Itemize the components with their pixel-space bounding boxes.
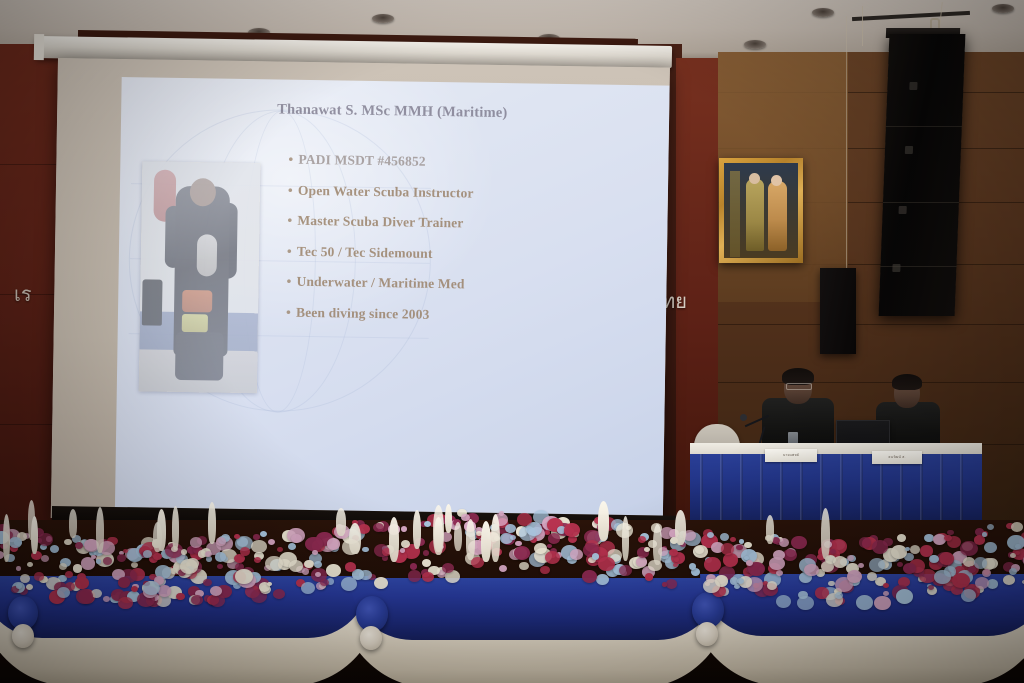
flower: [830, 549, 836, 554]
flower: [779, 538, 789, 547]
flower: [883, 583, 890, 589]
flower-spike: [336, 508, 347, 536]
flower: [869, 558, 885, 572]
flower: [929, 555, 939, 563]
royal-portrait-frame: [719, 158, 803, 263]
flower: [939, 552, 955, 565]
flower: [598, 557, 615, 571]
eyeglasses-icon: [786, 383, 812, 390]
flower: [422, 559, 431, 567]
flower: [408, 570, 422, 582]
slide-bullet-item: •Underwater / Maritime Med: [286, 274, 658, 296]
slide-bullet-item: •PADI MSDT #456852: [288, 152, 660, 174]
flower: [1003, 575, 1015, 585]
flower: [517, 513, 532, 526]
flower: [235, 569, 252, 584]
flower: [961, 589, 977, 603]
slide-bullet-list: •PADI MSDT #456852 •Open Water Scuba Ins…: [286, 152, 661, 341]
flower: [828, 581, 835, 587]
slide-bullet-item: •Been diving since 2003: [286, 304, 658, 326]
flower: [582, 570, 597, 583]
flower-spike: [454, 522, 462, 551]
flower: [982, 569, 991, 577]
slide-bullet-text: Master Scuba Diver Trainer: [297, 213, 463, 231]
flower: [59, 563, 67, 570]
flower-spike: [675, 510, 686, 545]
flower: [791, 536, 807, 550]
flower: [944, 535, 952, 542]
flower: [191, 595, 203, 605]
flower: [874, 596, 891, 610]
flower: [301, 582, 315, 594]
flower: [34, 572, 44, 580]
drape-rosette-cream: [696, 622, 718, 646]
flower: [499, 565, 507, 572]
flower-spike: [208, 502, 217, 545]
projected-slide: Thanawat S. MSc MMH (Maritime) •PADI MSD…: [115, 77, 670, 516]
flower: [304, 560, 313, 568]
flower-spike: [389, 517, 399, 562]
rigging-cable: [862, 6, 863, 46]
slide-bullet-item: •Open Water Scuba Instructor: [288, 182, 660, 204]
flower-spike: [349, 523, 361, 554]
flower: [833, 556, 848, 569]
flower-spike: [445, 504, 453, 534]
wall-speaker: [820, 268, 856, 354]
floral-garland: [0, 496, 1024, 616]
flower: [288, 543, 296, 550]
flower: [41, 555, 49, 562]
flower: [982, 532, 987, 537]
flower-spike: [766, 515, 775, 544]
flower: [934, 570, 951, 585]
flower: [210, 594, 225, 607]
flower: [254, 557, 261, 563]
flower: [26, 584, 33, 590]
flower: [847, 570, 862, 583]
flower: [374, 577, 388, 589]
flower: [216, 537, 227, 546]
flower: [769, 557, 785, 571]
bullet-marker-icon: •: [288, 152, 298, 168]
flower: [180, 559, 198, 574]
flower: [314, 561, 322, 568]
flower: [267, 582, 272, 586]
flower: [703, 579, 720, 594]
wall-text-thai-left: เร: [14, 278, 32, 310]
flower: [273, 589, 285, 599]
flower: [9, 537, 22, 548]
flower: [896, 589, 913, 604]
flower: [16, 566, 22, 571]
flower: [73, 564, 83, 572]
flower: [519, 562, 529, 571]
flower: [143, 581, 160, 596]
bullet-marker-icon: •: [287, 243, 297, 259]
flower-spike: [96, 507, 104, 554]
flower: [153, 553, 162, 560]
flower: [924, 534, 934, 543]
flower: [662, 582, 667, 586]
flower: [65, 571, 73, 578]
flower: [181, 549, 188, 555]
drape-rosette-cream: [360, 626, 382, 650]
flower-spike: [821, 508, 830, 559]
bullet-marker-icon: •: [286, 304, 296, 320]
bullet-marker-icon: •: [286, 274, 296, 290]
flower: [312, 550, 318, 555]
slide-bullet-item: •Tec 50 / Tec Sidemount: [287, 243, 659, 265]
flower: [203, 579, 211, 586]
flower: [897, 534, 906, 542]
flower: [968, 566, 976, 573]
flower: [987, 524, 994, 530]
flower: [847, 555, 854, 561]
name-card: ธนวัฒน์ ส.: [872, 451, 922, 464]
slide-bullet-text: PADI MSDT #456852: [298, 152, 426, 169]
flower-spike: [413, 510, 421, 549]
slide-bullet-item: •Master Scuba Diver Trainer: [287, 213, 659, 235]
flower: [118, 577, 131, 588]
flower: [277, 547, 283, 553]
projection-screen: Thanawat S. MSc MMH (Maritime) •PADI MSD…: [51, 58, 670, 528]
slide-bullet-text: Tec 50 / Tec Sidemount: [297, 243, 433, 260]
flower: [103, 557, 112, 565]
flower: [776, 595, 791, 608]
flower-spike: [172, 506, 179, 550]
flower: [783, 549, 797, 561]
flower: [400, 548, 405, 552]
downlight-icon: [372, 14, 394, 23]
flower: [570, 549, 583, 560]
flower: [721, 543, 735, 555]
flower: [739, 539, 744, 544]
flower: [253, 534, 259, 540]
flower: [545, 551, 560, 564]
bullet-marker-icon: •: [288, 182, 298, 198]
flower: [905, 547, 910, 551]
flower: [118, 597, 133, 610]
drape-rosette-cream: [12, 624, 34, 648]
flower: [57, 587, 70, 598]
flower: [422, 572, 434, 582]
flower: [27, 562, 33, 567]
flower: [736, 545, 743, 551]
downlight-icon: [992, 4, 1014, 13]
flower: [720, 533, 729, 541]
flower: [210, 586, 222, 596]
flower: [1015, 544, 1021, 549]
flower: [20, 574, 30, 583]
flower: [619, 565, 632, 576]
flower: [251, 540, 266, 553]
flower: [302, 568, 310, 575]
flower: [64, 539, 72, 546]
flower: [75, 577, 88, 589]
flower: [638, 536, 646, 543]
bullet-marker-icon: •: [287, 213, 297, 229]
flower: [797, 596, 814, 611]
flower: [215, 552, 226, 562]
flower: [645, 573, 653, 580]
flower: [424, 521, 431, 527]
flower: [548, 533, 560, 544]
flower: [326, 564, 341, 577]
flower: [362, 547, 369, 553]
flower-spike: [598, 501, 610, 540]
flower: [984, 542, 997, 553]
flower: [206, 556, 212, 562]
screen-housing-endcap: [34, 34, 44, 60]
flower: [644, 547, 651, 553]
flower: [540, 566, 549, 574]
flower: [103, 596, 110, 602]
flower: [974, 557, 987, 568]
flower: [76, 589, 93, 604]
slide-bullet-text: Open Water Scuba Instructor: [298, 182, 474, 200]
flower: [674, 557, 680, 562]
flower: [804, 564, 818, 576]
flower: [341, 577, 357, 591]
slide-bullet-text: Underwater / Maritime Med: [296, 274, 464, 292]
flower: [704, 557, 721, 571]
flower: [50, 545, 60, 553]
flower: [723, 553, 739, 567]
line-array-speaker: [879, 34, 966, 316]
flower: [217, 564, 223, 569]
flower: [689, 563, 696, 569]
flower: [510, 535, 516, 541]
flower: [730, 537, 736, 542]
flower: [190, 537, 202, 548]
flower: [669, 549, 678, 556]
flower: [1011, 522, 1023, 532]
flower: [401, 526, 408, 532]
flower-spike: [157, 509, 166, 551]
flower-spike: [653, 524, 663, 566]
flower: [260, 531, 267, 537]
flower: [240, 547, 250, 556]
flower: [897, 562, 903, 567]
name-card-text: นายแพทย์: [765, 449, 817, 462]
flower: [666, 579, 678, 589]
flower: [505, 524, 516, 533]
flower: [910, 545, 921, 554]
flower: [268, 539, 275, 545]
flower: [442, 563, 454, 574]
downlight-icon: [812, 8, 834, 17]
flower: [596, 574, 609, 585]
flower: [514, 546, 530, 560]
flower: [176, 593, 184, 600]
name-card-text: ธนวัฒน์ ส.: [872, 451, 922, 464]
flower: [858, 563, 864, 568]
flower: [131, 586, 138, 592]
flower: [1009, 568, 1018, 576]
flower-spike: [3, 514, 10, 562]
flower: [856, 595, 873, 610]
slide-photo-diver: [139, 161, 261, 393]
flower: [776, 570, 783, 576]
flower: [81, 557, 96, 570]
flower: [158, 585, 172, 597]
flower: [975, 577, 989, 589]
slide-bullet-text: Been diving since 2003: [296, 304, 430, 321]
flower: [327, 538, 340, 549]
flower: [859, 537, 871, 547]
flower: [423, 550, 429, 556]
downlight-icon: [744, 40, 766, 49]
flower: [410, 563, 417, 569]
flower: [320, 579, 329, 586]
name-card: นายแพทย์: [765, 449, 817, 462]
flower-spike: [31, 516, 38, 555]
flower: [38, 533, 53, 546]
flower: [952, 573, 970, 588]
flower-spike: [622, 516, 629, 562]
flower-spike: [434, 517, 443, 552]
flower: [117, 554, 127, 562]
flower-spike: [69, 509, 78, 538]
royal-portrait-image: [724, 163, 798, 258]
flower: [91, 589, 102, 598]
microphone-icon: [740, 414, 747, 421]
flower: [744, 542, 752, 549]
conference-hall-photo: เร ไทย: [0, 0, 1024, 683]
flower: [695, 546, 704, 554]
